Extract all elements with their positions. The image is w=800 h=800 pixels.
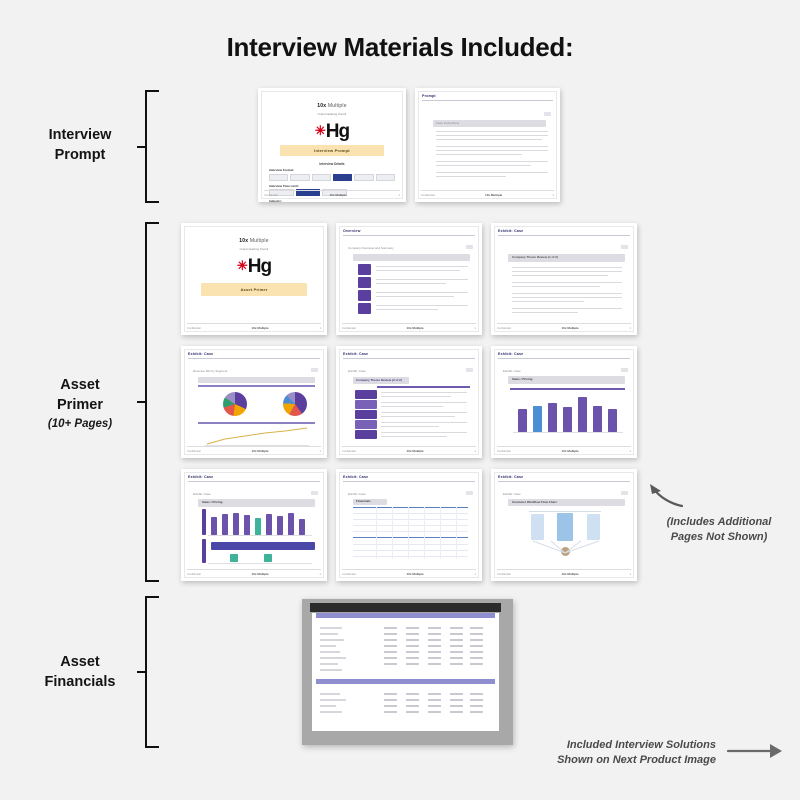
section-label-line2: Prompt xyxy=(55,147,106,163)
slide-subheader: Revenue Mix by Segment xyxy=(193,369,317,373)
footer-note-line2: Shown on Next Product Image xyxy=(557,754,716,766)
slide-header: Prompt xyxy=(422,94,553,98)
prompt-group1-chips[interactable] xyxy=(269,174,395,181)
slide-subheader-top: Exhibit: Case xyxy=(348,492,472,496)
slide-header: Overview xyxy=(343,229,475,233)
footer-left: Confidential xyxy=(187,573,201,576)
section-band-mid xyxy=(316,679,495,684)
primer-additional-pages-note: (Includes Additional Pages Not Shown) xyxy=(640,515,798,545)
footer-left: Confidential xyxy=(264,194,278,197)
chip-selected[interactable] xyxy=(333,174,352,181)
slide-primer-08[interactable]: Exhibit: Case Exhibit: Case Financials C… xyxy=(336,469,482,581)
slide-header: Exhibit: Case xyxy=(343,475,475,479)
section-label-asset-financials: Asset Financials xyxy=(5,653,155,692)
slide-header: Exhibit: Case xyxy=(498,229,630,233)
connector-lines-icon xyxy=(529,539,603,559)
section-label-line1: Asset xyxy=(60,654,100,670)
footer-left: Confidential xyxy=(497,450,511,453)
slide-footer: Confidential 10x Multiple 1 xyxy=(264,190,400,197)
section-band-top xyxy=(316,613,495,618)
chip[interactable] xyxy=(290,174,309,181)
prompt-band: Interview Prompt xyxy=(280,145,384,156)
footer-right: 1 xyxy=(399,194,400,197)
footer-center: 10x Multiple xyxy=(562,326,579,330)
primer-band: Asset Primer xyxy=(201,283,307,296)
chip[interactable] xyxy=(269,174,288,181)
bracket-asset-financials xyxy=(137,596,161,748)
section-sublabel: (10+ Pages) xyxy=(5,417,155,433)
slide-subheader: Sales / Pricing xyxy=(512,377,627,381)
slide-footer: Confidential 10x Multiple 1 xyxy=(342,569,476,576)
prompt-group2-label: Interview Time Limit: xyxy=(269,184,395,188)
footer-left: Confidential xyxy=(342,573,356,576)
slide-header: Exhibit: Case xyxy=(498,475,630,479)
footer-center: 10x Multiple xyxy=(485,193,502,197)
slide-primer-cover[interactable]: 10x Multiple Interviewing Fund ✳Hg Asset… xyxy=(181,223,327,335)
slide-footer: Confidential 10x Multiple 1 xyxy=(497,323,631,330)
section-label-line2: Financials xyxy=(45,674,116,690)
footer-center: 10x Multiple xyxy=(407,449,424,453)
slide-primer-06[interactable]: Exhibit: Case Exhibit: Case Sales / Pric… xyxy=(491,346,637,458)
footer-note-line1: Included Interview Solutions xyxy=(567,739,716,751)
slide-subheader: Customer Workflow Flow Chart xyxy=(512,500,627,504)
chip[interactable] xyxy=(312,174,331,181)
brand-wordmark: 10x Multiple xyxy=(181,238,327,244)
slide-subheader: Company Overview and Summary xyxy=(348,246,472,250)
slide-prompt-detail[interactable]: Prompt Case Instructions Confidential 10… xyxy=(415,88,560,202)
slide-subheader-top: Exhibit: Case xyxy=(503,369,627,373)
footer-right: 1 xyxy=(320,573,321,576)
slide-footer: Confidential 10x Multiple 1 xyxy=(421,190,554,197)
footer-left: Confidential xyxy=(342,327,356,330)
spreadsheet-toolbar xyxy=(310,603,501,612)
slide-subheader-top: Exhibit: Case xyxy=(503,492,627,496)
footer-note: Included Interview Solutions Shown on Ne… xyxy=(500,738,716,768)
slide-footer: Confidential 10x Multiple 1 xyxy=(497,446,631,453)
prompt-group1-label: Interview Format: xyxy=(269,168,395,172)
footer-right: 1 xyxy=(630,450,631,453)
brand-wordmark: 10x Multiple xyxy=(258,103,406,109)
asterisk-icon: ✳ xyxy=(315,123,325,138)
slide-subheader: Company Thesis Review (1 of 2) xyxy=(512,255,627,259)
prompt-details-header: Interview Details xyxy=(269,162,395,166)
slide-footer: Confidential 10x Multiple 1 xyxy=(187,569,321,576)
spreadsheet-canvas xyxy=(312,613,499,731)
footer-right: 1 xyxy=(553,194,554,197)
slide-subheader-top: Exhibit: Case xyxy=(348,369,472,373)
prompt-group3-label: Industry: xyxy=(269,199,395,202)
arrow-right-icon xyxy=(726,742,784,760)
slide-header: Exhibit: Case xyxy=(343,352,475,356)
footer-right: 1 xyxy=(630,327,631,330)
footer-center: 10x Multiple xyxy=(407,326,424,330)
hg-logo: ✳Hg xyxy=(181,257,327,276)
slide-subheader: Sales / Pricing xyxy=(202,500,317,504)
pie-chart-right xyxy=(283,392,307,416)
slide-header: Exhibit: Case xyxy=(188,475,320,479)
footer-left: Confidential xyxy=(342,450,356,453)
slide-footer: Confidential 10x Multiple 1 xyxy=(342,323,476,330)
footer-center: 10x Multiple xyxy=(252,449,269,453)
slide-subheader: Company Thesis Review (2 of 2) xyxy=(356,378,472,382)
page-title: Interview Materials Included: xyxy=(0,32,800,63)
footer-right: 1 xyxy=(475,573,476,576)
chip[interactable] xyxy=(354,174,373,181)
section-label-line2: Primer xyxy=(57,397,103,413)
slide-footer: Confidential 10x Multiple 1 xyxy=(342,446,476,453)
slide-primer-03[interactable]: Exhibit: Case Company Thesis Review (1 o… xyxy=(491,223,637,335)
footer-left: Confidential xyxy=(497,573,511,576)
footer-right: 1 xyxy=(475,327,476,330)
bracket-interview-prompt xyxy=(137,90,161,203)
pie-chart-left xyxy=(223,392,247,416)
slide-primer-09[interactable]: Exhibit: Case Exhibit: Case Customer Wor… xyxy=(491,469,637,581)
slide-footer: Confidential 10x Multiple 1 xyxy=(187,323,321,330)
section-label-line1: Interview xyxy=(49,127,112,143)
section-label-line1: Asset xyxy=(60,377,100,393)
footer-center: 10x Multiple xyxy=(252,572,269,576)
footer-center: 10x Multiple xyxy=(252,326,269,330)
slide-primer-07[interactable]: Exhibit: Case Exhibit: Case Sales / Pric… xyxy=(181,469,327,581)
footer-left: Confidential xyxy=(421,194,435,197)
footer-left: Confidential xyxy=(187,450,201,453)
slide-footer: Confidential 10x Multiple 1 xyxy=(497,569,631,576)
footer-right: 1 xyxy=(475,450,476,453)
slide-header: Exhibit: Case xyxy=(498,352,630,356)
slide-subheader: Case Instructions xyxy=(436,121,550,125)
section-label-asset-primer: Asset Primer (10+ Pages) xyxy=(5,376,155,433)
poster-root: Interview Materials Included: Interview … xyxy=(0,0,800,800)
slide-prompt-cover[interactable]: 10x Multiple Interviewing Fund ✳Hg Inter… xyxy=(258,88,406,202)
curved-arrow-up-left-icon xyxy=(646,482,686,508)
slide-primer-05[interactable]: Exhibit: Case Exhibit: Case Company Thes… xyxy=(336,346,482,458)
hg-logo: ✳Hg xyxy=(258,122,406,141)
bracket-asset-primer xyxy=(137,222,161,582)
note-line1: (Includes Additional xyxy=(667,516,772,528)
chip[interactable] xyxy=(376,174,395,181)
footer-right: 1 xyxy=(630,573,631,576)
slide-subheader-top: Exhibit: Case xyxy=(193,492,317,496)
footer-center: 10x Multiple xyxy=(562,449,579,453)
asterisk-icon: ✳ xyxy=(237,258,247,273)
footer-center: 10x Multiple xyxy=(407,572,424,576)
footer-left: Confidential xyxy=(497,327,511,330)
slide-primer-04[interactable]: Exhibit: Case Revenue Mix by Segment Con… xyxy=(181,346,327,458)
footer-right: 1 xyxy=(320,450,321,453)
trend-line-icon xyxy=(205,426,309,446)
footer-left: Confidential xyxy=(187,327,201,330)
slide-subheader: Financials xyxy=(356,499,472,503)
slide-primer-02[interactable]: Overview Company Overview and Summary Co… xyxy=(336,223,482,335)
brand-tagline: Interviewing Fund xyxy=(258,112,406,116)
footer-center: 10x Multiple xyxy=(562,572,579,576)
footer-center: 10x Multiple xyxy=(330,193,347,197)
footer-right: 1 xyxy=(320,327,321,330)
section-label-interview-prompt: Interview Prompt xyxy=(5,126,155,165)
slide-footer: Confidential 10x Multiple 1 xyxy=(187,446,321,453)
brand-tagline: Interviewing Fund xyxy=(181,247,327,251)
note-line2: Pages Not Shown) xyxy=(671,531,768,543)
slide-asset-financials[interactable] xyxy=(302,599,513,745)
slide-header: Exhibit: Case xyxy=(188,352,320,356)
